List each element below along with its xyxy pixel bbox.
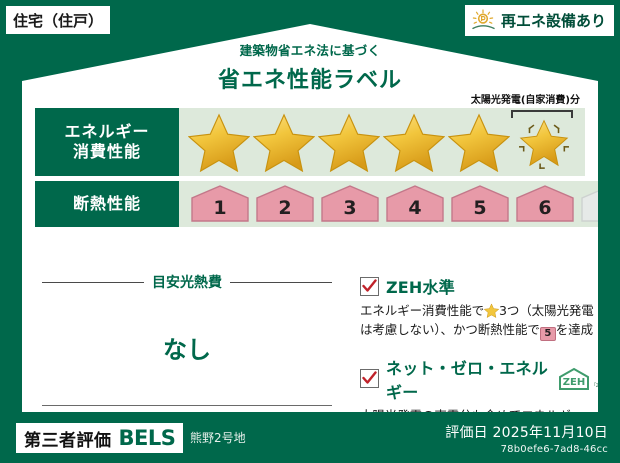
insulation-level-7: 7 [579, 185, 620, 223]
desc-part-2: 3つ（太陽光発電 [499, 303, 594, 318]
energy-performance-row: エネルギー 消費性能 [35, 108, 585, 176]
criteria-zeh-standard: ZEH水準 エネルギー消費性能で3つ（太陽光発電 は考慮しない）、かつ断熱性能で… [360, 274, 610, 341]
insulation-scale: 1 2 3 4 [179, 185, 620, 223]
label-card: 建築物省エネ法に基づく 省エネ性能ラベル エネルギー 消費性能 [22, 24, 598, 412]
insulation-level-label: 2 [254, 185, 316, 223]
energy-label-root: 住宅（住戸） 再エネ設備あり 建築物 [0, 0, 620, 463]
insulation-level-label: 4 [384, 185, 446, 223]
criteria-net-zero-energy-header: ネット・ゼロ・エネルギー ZEH 「ZEH」 [360, 355, 610, 403]
evaluation-date: 評価日 2025年11月10日 [445, 422, 608, 442]
evaluation-info: 評価日 2025年11月10日 78b0efe6-7ad8-46cc [445, 422, 608, 455]
desc-part-3: は考慮しない）、かつ断熱性能で [360, 322, 540, 337]
criteria-net-zero-energy-title: ネット・ゼロ・エネルギー [386, 355, 551, 403]
criteria-panel: ZEH水準 エネルギー消費性能で3つ（太陽光発電 は考慮しない）、かつ断熱性能で… [360, 274, 610, 444]
zeh-logo: ZEH 「ZEH」 [558, 367, 610, 391]
rule-left [42, 282, 144, 283]
solar-bracket [511, 110, 573, 118]
insulation-performance-row: 断熱性能 1 2 3 [35, 181, 585, 227]
insulation-header-label: 断熱性能 [73, 194, 141, 214]
star-icon [188, 112, 250, 172]
desc-part-1: 太陽光発電の売電分も含めてエネルギー [360, 408, 583, 423]
performance-table: エネルギー 消費性能 [35, 108, 585, 227]
check-icon [362, 279, 377, 294]
criteria-zeh-standard-title: ZEH水準 [386, 274, 455, 298]
star-icon [253, 112, 315, 172]
star-icon [318, 112, 380, 172]
renewable-label: 再エネ設備あり [501, 10, 606, 31]
housing-type-badge: 住宅（住戸） [6, 6, 110, 34]
checkbox-net-zero-energy[interactable] [360, 369, 379, 388]
check-icon [362, 371, 377, 386]
insulation-level-label: 7 [579, 185, 620, 223]
sun-solar-icon [471, 9, 496, 32]
utility-cost-bottom-rule [42, 405, 332, 406]
star-rating [179, 112, 575, 172]
utility-cost-panel: 目安光熱費 なし [42, 272, 332, 406]
star-icon [383, 112, 445, 172]
insulation-level-label: 6 [514, 185, 576, 223]
solar-note-label: 太陽光発電(自家消費)分 [471, 91, 580, 106]
insulation-performance-header: 断熱性能 [35, 181, 179, 227]
bels-en-label: BELS [119, 426, 176, 450]
insulation-level-label: 5 [449, 185, 511, 223]
insulation-level-3: 3 [319, 185, 381, 223]
utility-cost-title-row: 目安光熱費 [42, 272, 332, 292]
star-icon [484, 303, 499, 318]
housing-type-label: 住宅（住戸） [13, 10, 103, 31]
criteria-zeh-standard-desc: エネルギー消費性能で3つ（太陽光発電 は考慮しない）、かつ断熱性能で5を達成 [360, 302, 610, 341]
label-subtitle: 建築物省エネ法に基づく [22, 40, 598, 59]
insulation-level-label: 1 [189, 185, 251, 223]
zeh-house-icon: ZEH [558, 367, 590, 391]
bels-footer-badge: 第三者評価 BELS [16, 423, 183, 453]
insulation-level-4: 4 [384, 185, 446, 223]
insulation-level-5: 5 [449, 185, 511, 223]
utility-cost-value: なし [42, 330, 332, 365]
criteria-zeh-standard-header: ZEH水準 [360, 274, 610, 298]
label-title-block: 建築物省エネ法に基づく 省エネ性能ラベル [22, 40, 598, 94]
desc-part-4: を達成 [556, 322, 593, 337]
insulation-badge-5: 5 [540, 327, 556, 341]
insulation-level-6: 6 [514, 185, 576, 223]
insulation-performance-body: 1 2 3 4 [179, 181, 620, 227]
energy-header-line1: エネルギー [64, 122, 149, 142]
rule-right [230, 282, 332, 283]
desc-part-1: エネルギー消費性能で [360, 303, 484, 318]
energy-performance-header: エネルギー 消費性能 [35, 108, 179, 176]
utility-cost-title: 目安光熱費 [152, 272, 222, 292]
star-icon [448, 112, 510, 172]
checkbox-zeh-standard[interactable] [360, 277, 379, 296]
label-title: 省エネ性能ラベル [22, 62, 598, 94]
star-icon-solar [513, 112, 575, 172]
renewable-equipment-badge: 再エネ設備あり [465, 5, 614, 36]
evaluation-id: 78b0efe6-7ad8-46cc [445, 444, 608, 455]
energy-header-line2: 消費性能 [73, 142, 141, 162]
bels-jp-label: 第三者評価 [24, 426, 112, 451]
insulation-level-1: 1 [189, 185, 251, 223]
zeh-trademark: 「ZEH」 [591, 382, 610, 391]
svg-text:ZEH: ZEH [563, 377, 585, 388]
insulation-level-2: 2 [254, 185, 316, 223]
property-name: 熊野2号地 [190, 427, 246, 446]
energy-performance-body: 太陽光発電(自家消費)分 [179, 108, 585, 176]
insulation-level-label: 3 [319, 185, 381, 223]
